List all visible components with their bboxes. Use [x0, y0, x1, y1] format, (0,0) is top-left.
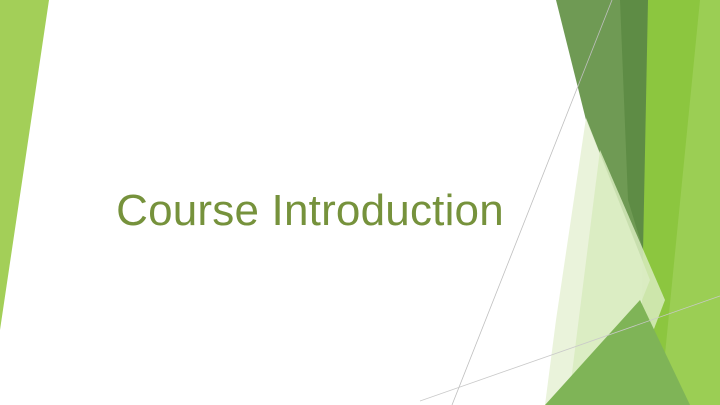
right-bright-wedge-a	[640, 0, 720, 405]
right-mid-green-lower	[545, 300, 690, 405]
right-pale-overlay-b	[568, 150, 665, 405]
hairline-lower-diagonal	[420, 296, 720, 401]
left-green-wedge	[0, 0, 49, 330]
title-placeholder[interactable]: Course Introduction	[60, 178, 560, 244]
slide-canvas: Course Introduction	[0, 0, 720, 405]
right-bright-wedge-b	[660, 0, 720, 405]
right-pale-overlay-a	[545, 118, 650, 405]
right-sage-wedge-dark	[620, 0, 660, 305]
right-sage-wedge-upper	[556, 0, 660, 305]
page-title: Course Introduction	[116, 187, 504, 235]
